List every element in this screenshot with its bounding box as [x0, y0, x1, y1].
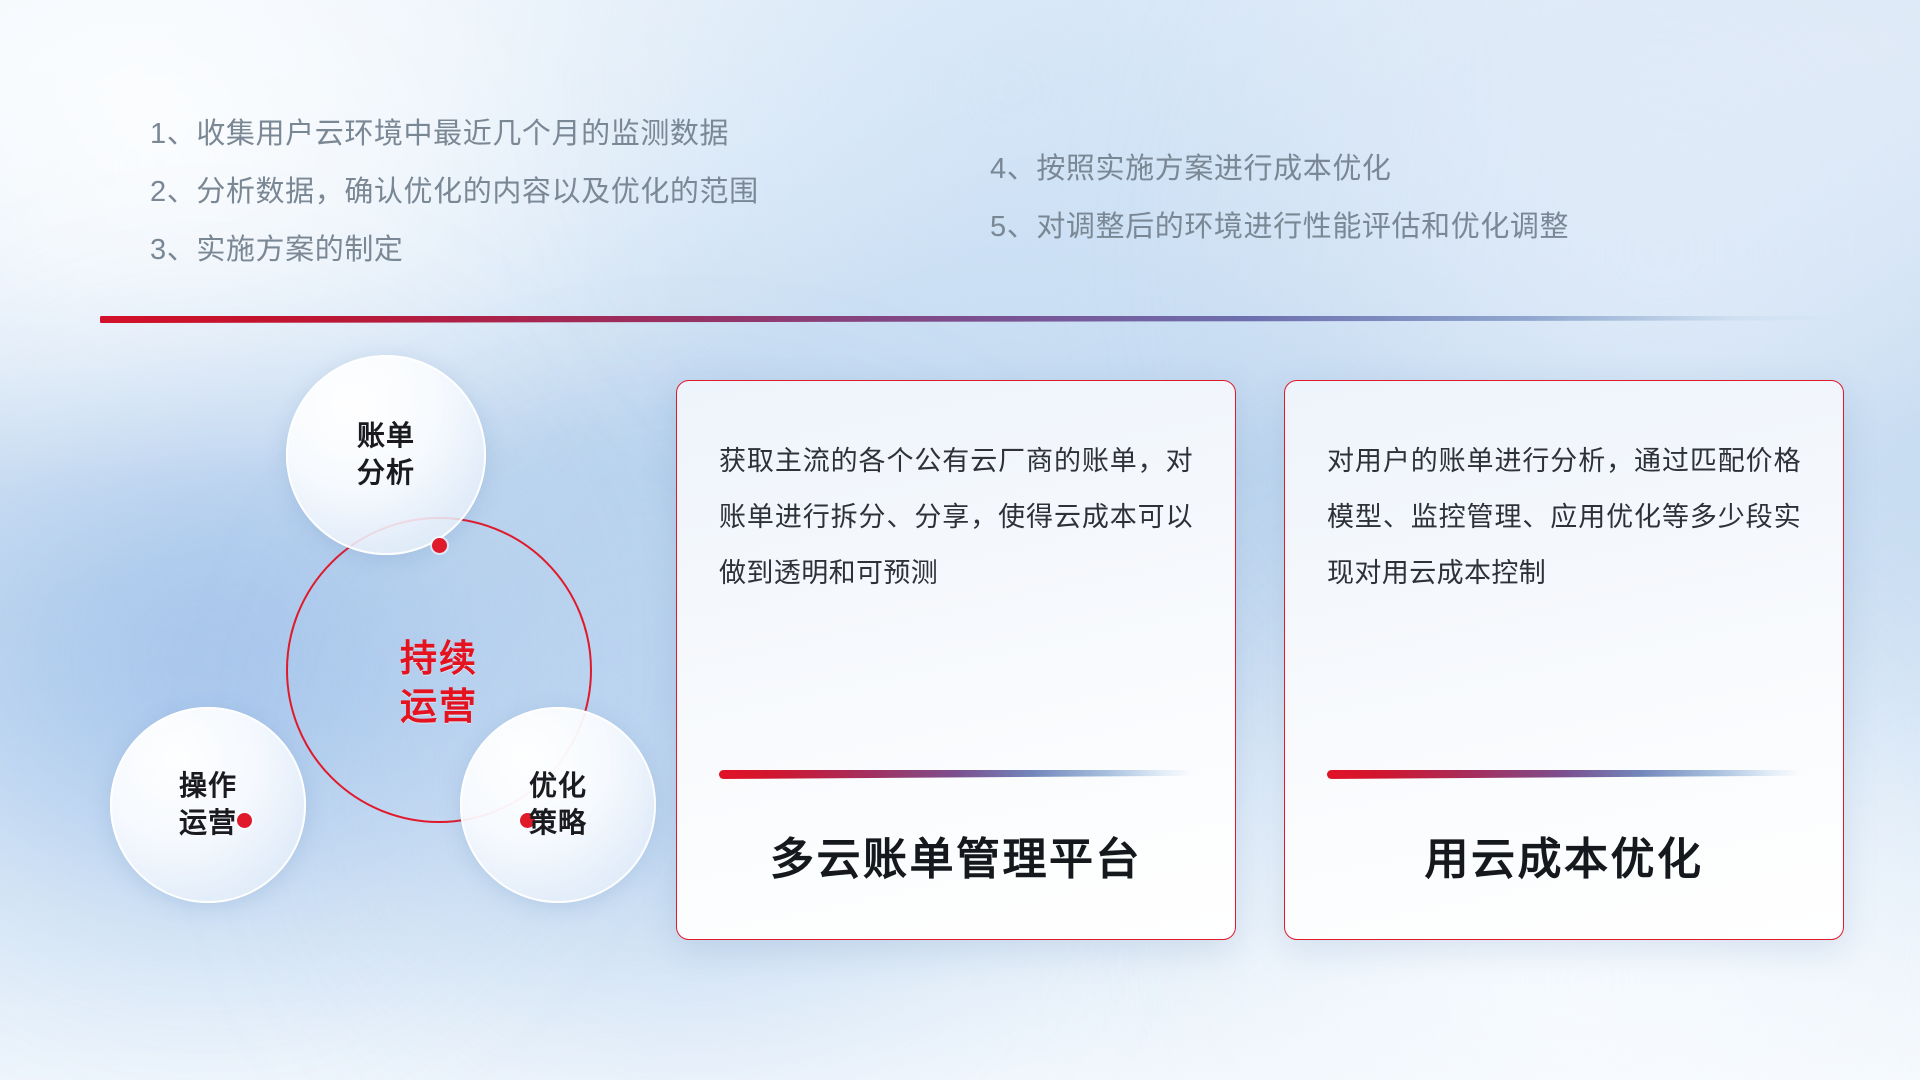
card-body-text: 对用户的账单进行分析，通过匹配价格模型、监控管理、应用优化等多少段实现对用云成本… — [1327, 433, 1801, 601]
diagram-center-label: 持续 运营 — [286, 635, 592, 731]
feature-card-multicloud-billing[interactable]: 获取主流的各个公有云厂商的账单，对账单进行拆分、分享，使得云成本可以做到透明和可… — [676, 380, 1236, 940]
bubble-label-optimization-strategy: 优化 策略 — [529, 768, 587, 842]
feature-card-cloud-cost-optimization[interactable]: 对用户的账单进行分析，通过匹配价格模型、监控管理、应用优化等多少段实现对用云成本… — [1284, 380, 1844, 940]
step-item-5: 5、对调整后的环境进行性能评估和优化调整 — [990, 213, 1569, 242]
bubble-label-line1: 优化 — [529, 770, 587, 801]
card-title: 多云账单管理平台 — [719, 823, 1193, 887]
bubble-label-line1: 账单 — [357, 420, 415, 451]
continuous-operation-diagram: 账单 分析 操作 运营 优化 策略 持续 运营 — [90, 345, 650, 915]
step-item-4: 4、按照实施方案进行成本优化 — [990, 155, 1569, 184]
diagram-bubble-operations[interactable]: 操作 运营 — [110, 707, 306, 903]
center-label-line1: 持续 — [400, 638, 478, 679]
card-title: 用云成本优化 — [1327, 823, 1801, 887]
diagram-node-dot-bottom-left — [237, 813, 252, 828]
diagram-bubble-bill-analysis[interactable]: 账单 分析 — [286, 355, 486, 555]
step-item-2: 2、分析数据，确认优化的内容以及优化的范围 — [150, 178, 759, 207]
diagram-bubble-optimization-strategy[interactable]: 优化 策略 — [460, 707, 656, 903]
card-divider-rule — [719, 770, 1193, 779]
card-body-text: 获取主流的各个公有云厂商的账单，对账单进行拆分、分享，使得云成本可以做到透明和可… — [719, 433, 1193, 601]
section-divider-rule — [100, 316, 1840, 323]
bubble-label-line1: 操作 — [179, 770, 237, 801]
bubble-label-line2: 策略 — [529, 807, 587, 838]
step-item-3: 3、实施方案的制定 — [150, 236, 759, 265]
bubble-label-operations: 操作 运营 — [179, 768, 237, 842]
steps-list-right: 4、按照实施方案进行成本优化 5、对调整后的环境进行性能评估和优化调整 — [990, 155, 1569, 271]
card-divider-rule — [1327, 770, 1801, 779]
bubble-label-line2: 运营 — [179, 807, 237, 838]
steps-list-left: 1、收集用户云环境中最近几个月的监测数据 2、分析数据，确认优化的内容以及优化的… — [150, 120, 759, 294]
center-label-line2: 运营 — [400, 686, 478, 727]
bubble-label-line2: 分析 — [357, 457, 415, 488]
bubble-label-bill-analysis: 账单 分析 — [357, 418, 415, 492]
diagram-node-dot-top — [432, 538, 447, 553]
step-item-1: 1、收集用户云环境中最近几个月的监测数据 — [150, 120, 759, 149]
